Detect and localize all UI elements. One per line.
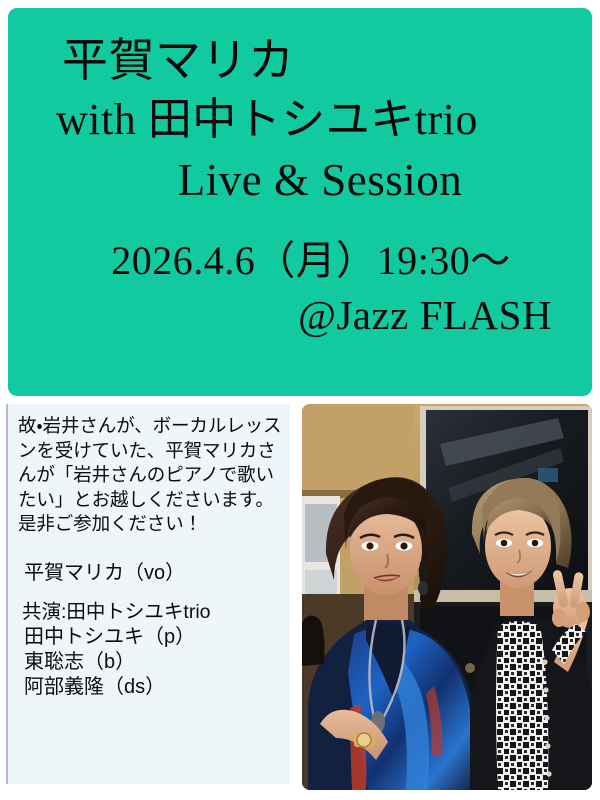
spacer xyxy=(18,586,282,600)
spacer xyxy=(18,543,282,561)
photo-illustration xyxy=(302,404,592,790)
with-band-line: with 田中トシユキtrio xyxy=(34,98,566,142)
flyer-poster: 平賀マリカ with 田中トシユキtrio Live & Session 202… xyxy=(0,0,600,800)
info-panel: 故・岩井さんが、ボーカルレッスンを受けていた、平賀マリカさんが「岩井さんのピアノ… xyxy=(6,404,290,784)
lead-performer-credit: 平賀マリカ（vo） xyxy=(18,561,282,586)
event-datetime: 2026.4.6（月）19:30〜 xyxy=(34,241,566,281)
band-member-credit: 阿部義隆（ds） xyxy=(18,675,282,700)
artist-name: 平賀マリカ xyxy=(34,38,566,84)
band-member-credit: 田中トシユキ（p） xyxy=(18,625,282,650)
event-venue: @Jazz FLASH xyxy=(34,295,566,336)
event-description: 故・岩井さんが、ボーカルレッスンを受けていた、平賀マリカさんが「岩井さんのピアノ… xyxy=(18,414,282,537)
band-heading: 共演:田中トシユキtrio xyxy=(18,600,282,625)
hero-panel: 平賀マリカ with 田中トシユキtrio Live & Session 202… xyxy=(8,8,592,396)
event-type-title: Live & Session xyxy=(34,158,566,203)
band-member-credit: 東聡志（b） xyxy=(18,650,282,675)
performers-photo xyxy=(302,404,592,790)
lower-section: 故・岩井さんが、ボーカルレッスンを受けていた、平賀マリカさんが「岩井さんのピアノ… xyxy=(0,400,600,800)
